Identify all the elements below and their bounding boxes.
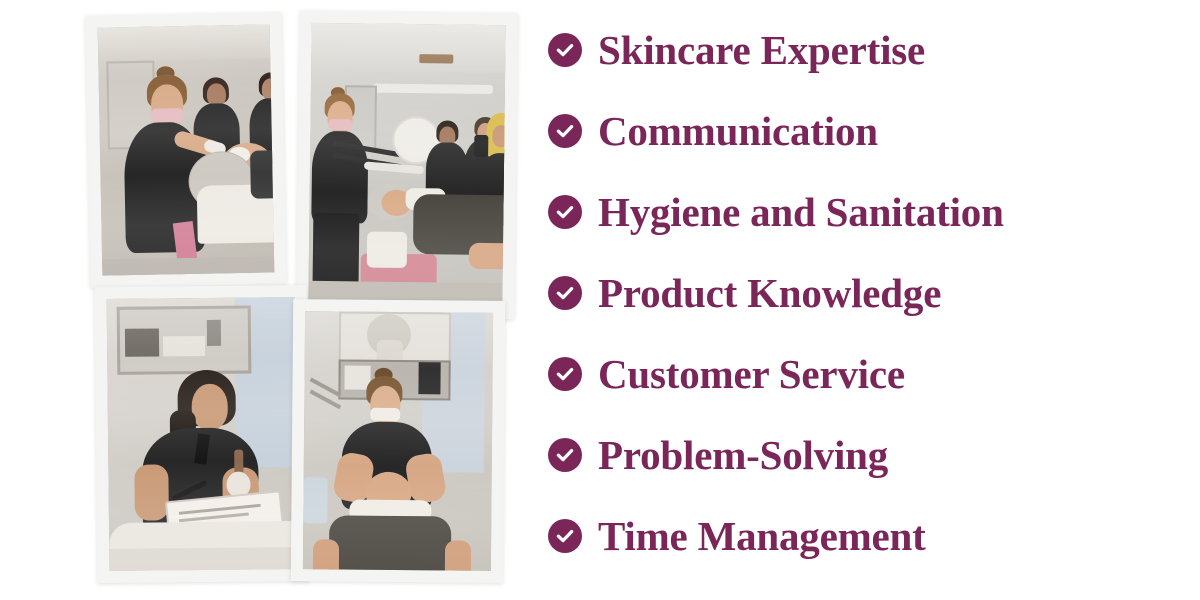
checklist-item-hygiene-and-sanitation: Hygiene and Sanitation <box>548 188 1004 236</box>
photo-top-left <box>85 12 286 288</box>
checklist-item-problem-solving: Problem-Solving <box>548 431 888 479</box>
check-circle-icon <box>548 276 582 310</box>
checklist-item-label: Problem-Solving <box>598 435 888 476</box>
graphic-canvas: Skincare Expertise Communication Hygiene… <box>0 0 1200 600</box>
photo-bottom-left-image <box>107 297 298 571</box>
check-circle-icon <box>548 33 582 67</box>
checklist-item-label: Product Knowledge <box>598 273 941 314</box>
checklist-item-skincare-expertise: Skincare Expertise <box>548 26 925 74</box>
photo-collage <box>0 0 540 600</box>
checklist-item-label: Hygiene and Sanitation <box>598 192 1004 233</box>
checklist-item-label: Customer Service <box>598 354 905 395</box>
checklist-item-label: Skincare Expertise <box>598 30 925 71</box>
check-circle-icon <box>548 519 582 553</box>
checklist-item-product-knowledge: Product Knowledge <box>548 269 941 317</box>
checklist-item-communication: Communication <box>548 107 878 155</box>
photo-bottom-right <box>291 299 505 583</box>
photo-top-right <box>296 11 518 320</box>
checklist-item-label: Communication <box>598 111 878 152</box>
photo-top-left-image <box>98 24 275 275</box>
check-circle-icon <box>548 438 582 472</box>
skills-checklist: Skincare Expertise Communication Hygiene… <box>548 0 1200 600</box>
photo-bottom-left <box>94 285 309 583</box>
photo-top-right-image <box>308 23 505 307</box>
checklist-item-label: Time Management <box>598 516 926 557</box>
checklist-item-time-management: Time Management <box>548 512 926 560</box>
checklist-item-customer-service: Customer Service <box>548 350 905 398</box>
check-circle-icon <box>548 357 582 391</box>
check-circle-icon <box>548 114 582 148</box>
check-circle-icon <box>548 195 582 229</box>
photo-bottom-right-image <box>303 311 493 571</box>
